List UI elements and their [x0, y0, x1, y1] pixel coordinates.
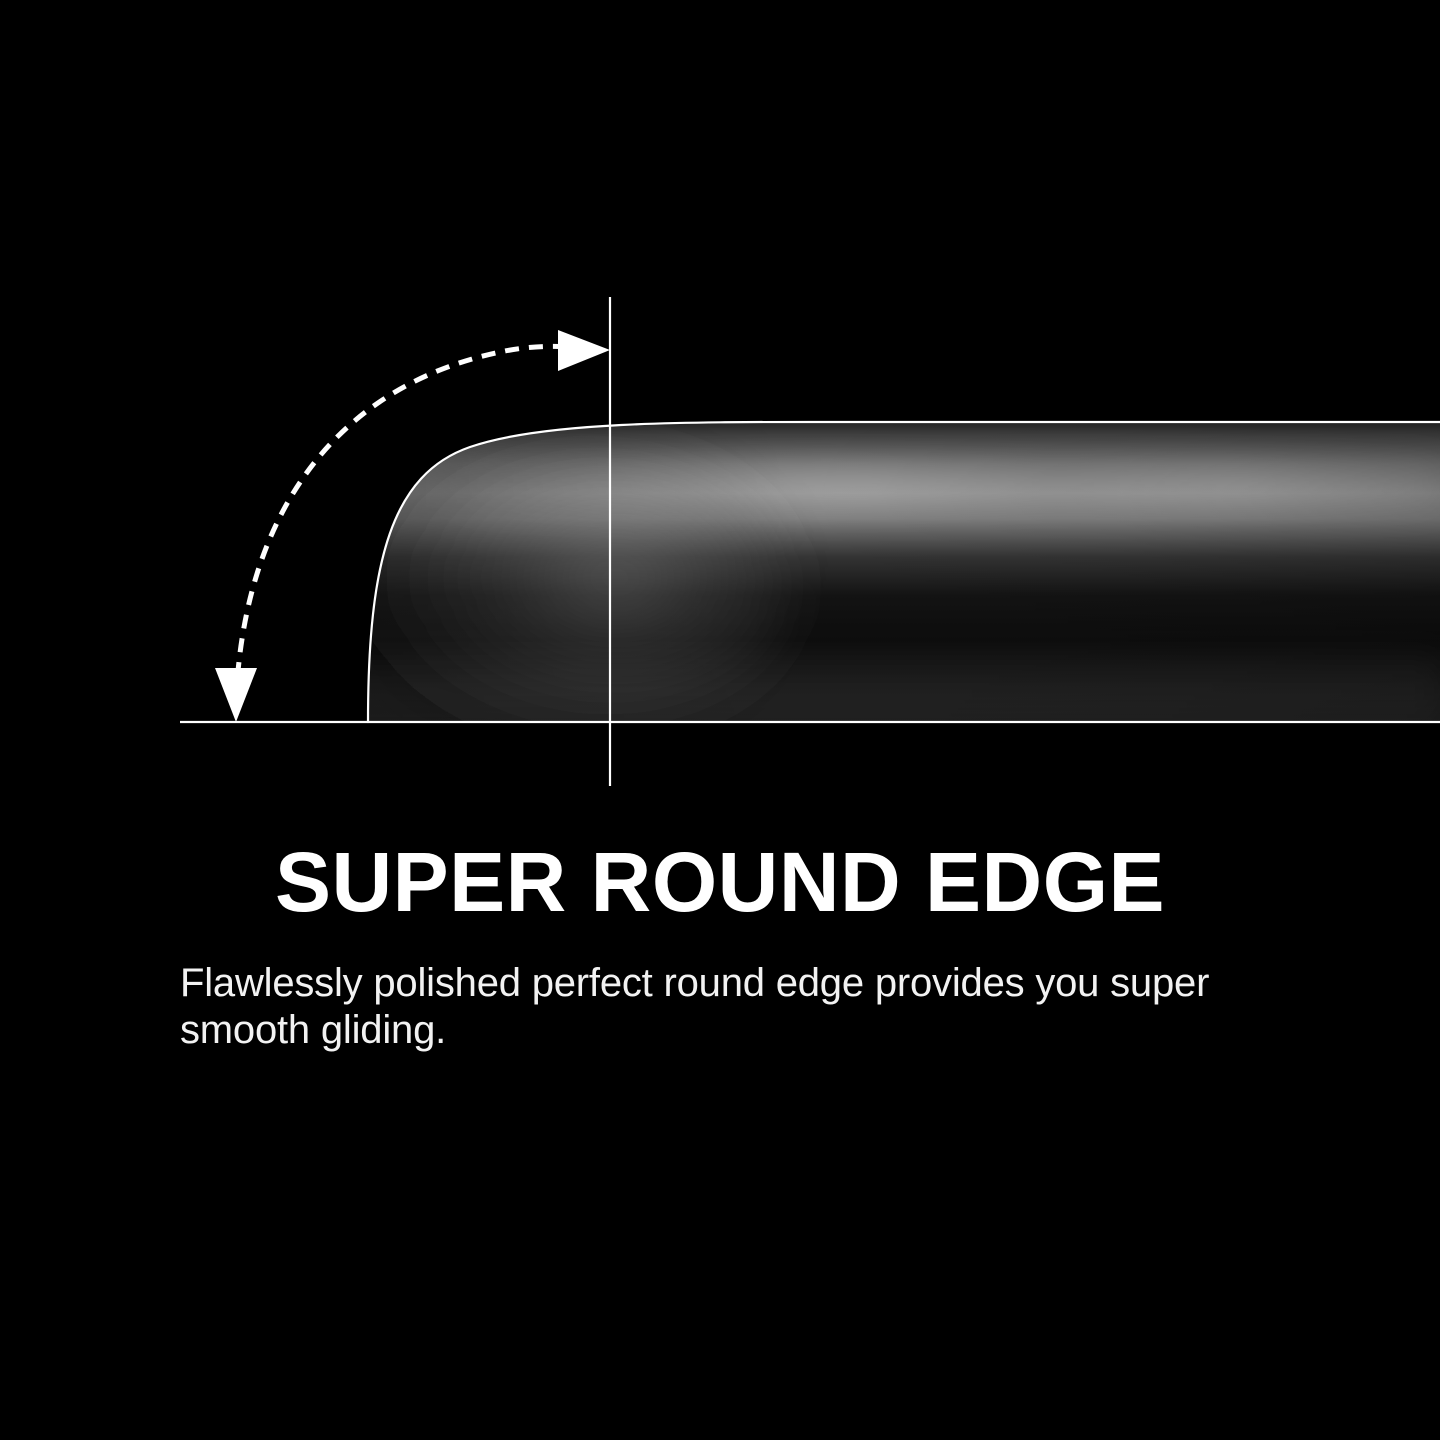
super-round-edge-diagram [0, 0, 1440, 820]
specular-sheen [430, 462, 1440, 508]
arc-arrow-right-icon [558, 330, 610, 371]
page-description: Flawlessly polished perfect round edge p… [180, 960, 1280, 1054]
product-body [0, 410, 1440, 740]
page-title: SUPER ROUND EDGE [0, 836, 1440, 928]
arc-arrow-down-icon [215, 668, 257, 722]
product-feature-slide: SUPER ROUND EDGE Flawlessly polished per… [0, 0, 1440, 1440]
copy-block: SUPER ROUND EDGE Flawlessly polished per… [0, 836, 1440, 928]
bounce-light [340, 640, 1440, 730]
